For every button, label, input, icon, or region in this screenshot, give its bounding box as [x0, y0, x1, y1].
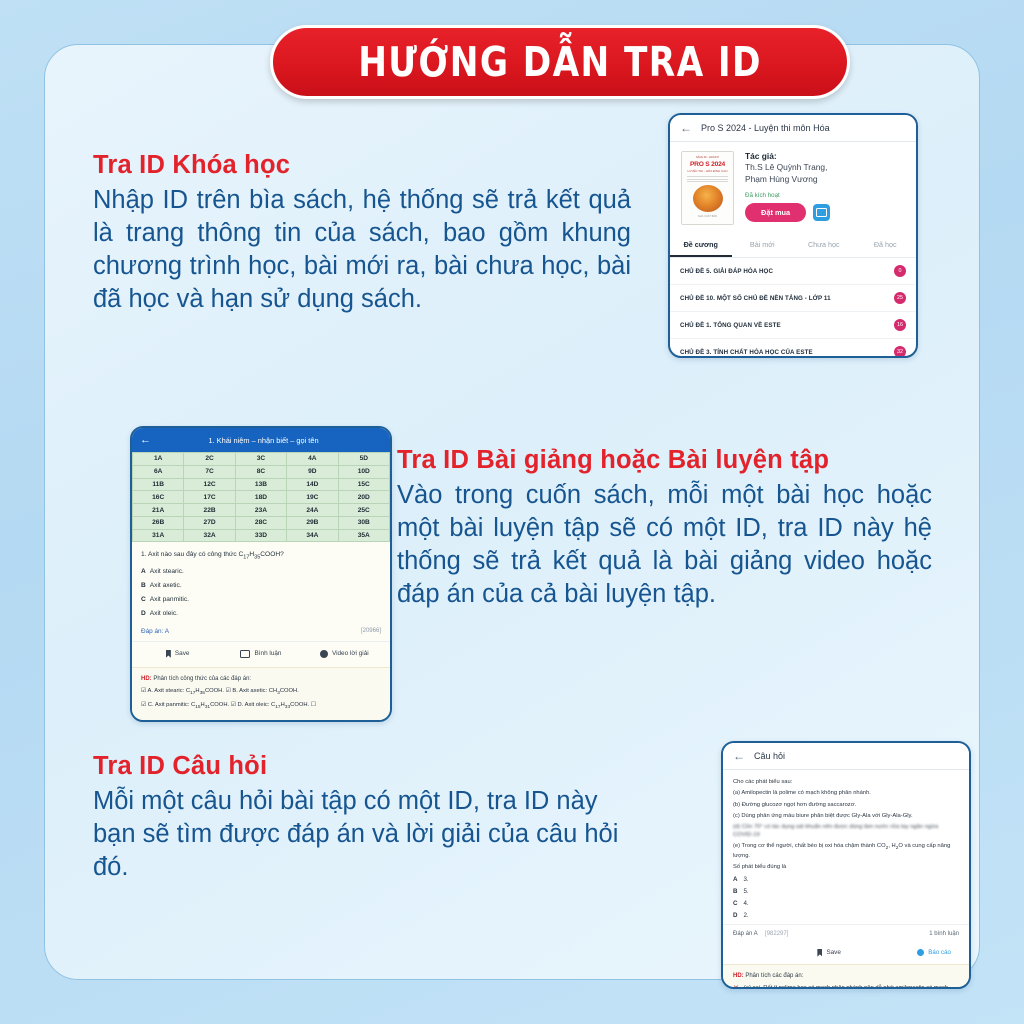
tab-de-cuong[interactable]: Đề cương	[670, 233, 732, 257]
option-key: B	[733, 888, 737, 895]
statement-d: (d) Cồn 70° có tác dụng sát khuẩn nên đư…	[733, 824, 959, 840]
answer-key-cell: 31A	[133, 529, 184, 542]
topic-row[interactable]: CHỦ ĐỀ 3. TÍNH CHẤT HÓA HỌC CỦA ESTE 32	[670, 339, 916, 358]
statement-a: (a) Amilopectin là polime có mạch không …	[733, 790, 959, 798]
statement-c: (c) Dùng phản ứng màu biure phân biệt đư…	[733, 813, 959, 821]
hint-line: ☑ C. Axit panmitic: C15H31COOH. ☑ D. Axi…	[141, 702, 381, 710]
question-id: [20966]	[361, 628, 381, 634]
book-cover-top-note: SÁCH ID - HỌC247	[696, 156, 719, 159]
answer-key-row: 26B27D28C29B30B	[133, 516, 390, 529]
answer-key-cell: 12C	[184, 478, 235, 491]
topic-row[interactable]: CHỦ ĐỀ 10. MỘT SỐ CHỦ ĐỀ NỀN TẢNG - LỚP …	[670, 285, 916, 312]
option-key: D	[141, 610, 146, 617]
option-key: A	[733, 876, 737, 883]
author-name-2: Phạm Hùng Vương	[745, 173, 830, 185]
section-3-body: Mỗi một câu hỏi bài tập có một ID, tra I…	[93, 785, 631, 884]
answer-line: Đáp án: A [20966]	[141, 628, 381, 635]
hint-label: HD:	[141, 676, 152, 682]
book-cover-lines	[687, 175, 728, 183]
answer-key-cell: 3C	[235, 453, 286, 466]
back-arrow-icon[interactable]: ←	[680, 122, 692, 134]
buy-button[interactable]: Đặt mua	[745, 203, 806, 222]
answer-key-cell: 16C	[133, 491, 184, 504]
answer-key-cell: 30B	[338, 516, 389, 529]
section-2-body: Vào trong cuốn sách, mỗi một bài học hoặ…	[397, 479, 932, 611]
topic-label: CHỦ ĐỀ 3. TÍNH CHẤT HÓA HỌC CỦA ESTE	[680, 349, 813, 356]
answer-key-cell: 18D	[235, 491, 286, 504]
answer-key-cell: 34A	[287, 529, 338, 542]
bookmark-icon	[817, 949, 822, 957]
page-title-banner: HƯỚNG DẪN TRA ID	[270, 25, 850, 99]
topic-row[interactable]: CHỦ ĐỀ 5. GIẢI ĐÁP HÓA HỌC 0	[670, 258, 916, 285]
option-text: Axit oleic.	[150, 610, 178, 617]
option-row: C4.	[733, 900, 969, 907]
section-course-id: Tra ID Khóa học Nhập ID trên bìa sách, h…	[93, 151, 631, 316]
question-block: 1. Axit nào sau đây có công thức C17H35C…	[132, 542, 390, 634]
course-summary: SÁCH ID - HỌC247 PRO S 2024 LUYỆN THI - …	[670, 142, 916, 230]
hint-label: HD:	[733, 973, 744, 979]
option-text: Axit panmitic.	[150, 596, 189, 603]
bookmark-icon	[166, 650, 171, 658]
question-id: [982297]	[765, 931, 788, 937]
option-text: Axit axetic.	[150, 582, 182, 589]
option-row: D2.	[733, 912, 969, 919]
option-text: 4.	[743, 900, 748, 907]
author-name-1: Th.S Lê Quỳnh Trang,	[745, 161, 830, 173]
video-label: Video lời giải	[332, 650, 369, 657]
answer-value: Đáp án: A	[141, 628, 169, 635]
answer-key-title: 1. Khái niệm – nhận biết – gọi tên	[159, 436, 368, 445]
answer-key-cell: 9D	[287, 465, 338, 478]
question-app-bar: ← Câu hỏi	[723, 743, 969, 770]
topic-count-badge: 16	[894, 319, 906, 331]
answer-key-cell: 14D	[287, 478, 338, 491]
play-circle-icon	[320, 650, 328, 658]
answer-key-table: 1A2C3C4A5D6A7C8C9D10D11B12C13B14D15C16C1…	[132, 452, 390, 542]
answer-key-cell: 25C	[338, 504, 389, 517]
question-sub-prompt: Số phát biểu đúng là	[733, 864, 959, 872]
answer-key-row: 1A2C3C4A5D	[133, 453, 390, 466]
answer-key-row: 6A7C8C9D10D	[133, 465, 390, 478]
section-1-body: Nhập ID trên bìa sách, hệ thống sẽ trả k…	[93, 184, 631, 316]
topic-count-badge: 32	[894, 346, 906, 358]
answer-key-row: 16C17C18D19C20D	[133, 491, 390, 504]
book-cover-artwork	[693, 185, 723, 212]
option-row: CAxit panmitic.	[141, 596, 381, 603]
answer-key-cell: 24A	[287, 504, 338, 517]
answer-key-cell: 6A	[133, 465, 184, 478]
save-button[interactable]: Save	[741, 949, 917, 957]
option-text: Axit stearic.	[150, 568, 184, 575]
answer-key-cell: 8C	[235, 465, 286, 478]
topic-label: CHỦ ĐỀ 5. GIẢI ĐÁP HÓA HỌC	[680, 268, 773, 275]
course-app-bar: ← Pro S 2024 - Luyện thi môn Hóa	[670, 115, 916, 142]
question-text-value: 1. Axit nào sau đây có công thức C17H35C…	[141, 551, 284, 558]
answer-key-cell: 15C	[338, 478, 389, 491]
hint-title: Phân tích công thức của các đáp án:	[153, 676, 251, 682]
answer-key-cell: 13B	[235, 478, 286, 491]
option-text: 3.	[743, 876, 748, 883]
topic-count-badge: 25	[894, 292, 906, 304]
option-key: B	[141, 582, 146, 589]
report-label: Báo cáo	[928, 949, 951, 956]
statement-b: (b) Đường glucozơ ngọt hơn đường saccaro…	[733, 802, 959, 810]
answer-key-cell: 7C	[184, 465, 235, 478]
answer-key-cell: 1A	[133, 453, 184, 466]
answer-explanation: HD: Phân tích công thức của các đáp án: …	[132, 667, 390, 720]
answer-key-cell: 17C	[184, 491, 235, 504]
topic-count-badge: 0	[894, 265, 906, 277]
section-3-heading: Tra ID Câu hỏi	[93, 752, 631, 781]
course-screen-mockup: ← Pro S 2024 - Luyện thi môn Hóa SÁCH ID…	[668, 113, 918, 358]
answer-text: Đáp án A	[733, 931, 757, 937]
answer-key-cell: 29B	[287, 516, 338, 529]
answer-key-cell: 35A	[338, 529, 389, 542]
topic-label: CHỦ ĐỀ 1. TỔNG QUAN VỀ ESTE	[680, 322, 781, 329]
answer-key-row: 11B12C13B14D15C	[133, 478, 390, 491]
answer-key-cell: 10D	[338, 465, 389, 478]
question-prompt: Cho các phát biểu sau:	[733, 779, 959, 787]
section-2-heading: Tra ID Bài giảng hoặc Bài luyện tập	[397, 446, 932, 475]
answer-key-cell: 4A	[287, 453, 338, 466]
answer-key-app-bar: ← 1. Khái niệm – nhận biết – gọi tên	[132, 428, 390, 452]
answer-key-cell: 22B	[184, 504, 235, 517]
tab-da-hoc[interactable]: Đã học	[855, 233, 917, 257]
question-screen-title: Câu hỏi	[754, 751, 785, 761]
save-button[interactable]: Save	[136, 650, 219, 658]
comment-count[interactable]: 1 bình luận	[929, 931, 959, 937]
topic-label: CHỦ ĐỀ 10. MỘT SỐ CHỦ ĐỀ NỀN TẢNG - LỚP …	[680, 295, 831, 302]
question-footer: Đáp án A [982297] 1 bình luận	[723, 924, 969, 943]
option-row: BAxit axetic.	[141, 582, 381, 589]
author-label: Tác giả:	[745, 151, 830, 161]
question-explanation: HD: Phân tích các đáp án: ✕ (a) sai. Rất…	[723, 964, 969, 989]
chat-icon[interactable]	[813, 204, 830, 221]
save-label: Save	[826, 949, 841, 956]
answer-value: Đáp án A [982297]	[733, 931, 788, 937]
option-key: D	[733, 912, 737, 919]
option-key: A	[141, 568, 146, 575]
answer-key-cell: 2C	[184, 453, 235, 466]
answer-key-cell: 32A	[184, 529, 235, 542]
answer-key-cell: 19C	[287, 491, 338, 504]
option-row: B5.	[733, 888, 969, 895]
section-1-heading: Tra ID Khóa học	[93, 151, 631, 180]
hint-line: (a) sai. Rất ít polime học có mạch phân …	[744, 985, 959, 989]
course-title: Pro S 2024 - Luyện thi môn Hóa	[701, 123, 830, 133]
hint-line: ☑ A. Axit stearic: C17H35COOH. ☑ B. Axit…	[141, 688, 381, 696]
course-action-row: Đặt mua	[745, 203, 830, 222]
question-actions: Save Báo cáo	[723, 943, 969, 964]
book-cover-image: SÁCH ID - HỌC247 PRO S 2024 LUYỆN THI - …	[681, 151, 734, 225]
book-cover-title: PRO S 2024	[690, 161, 725, 168]
option-row: A3.	[733, 876, 969, 883]
report-button[interactable]: Báo cáo	[917, 949, 951, 956]
comment-label: Bình luận	[254, 650, 281, 657]
page-title: HƯỚNG DẪN TRA ID	[358, 38, 762, 86]
option-text: 5.	[743, 888, 748, 895]
course-meta: Tác giả: Th.S Lê Quỳnh Trang, Phạm Hùng …	[745, 151, 830, 225]
comment-button[interactable]: Bình luận	[219, 650, 302, 658]
section-lesson-id: Tra ID Bài giảng hoặc Bài luyện tập Vào …	[397, 446, 932, 611]
tab-bai-moi[interactable]: Bài mới	[732, 233, 794, 257]
answer-key-cell: 5D	[338, 453, 389, 466]
save-label: Save	[175, 650, 190, 657]
option-row: AAxit stearic.	[141, 568, 381, 575]
info-icon	[917, 949, 924, 956]
hint-title: Phân tích các đáp án:	[745, 973, 803, 979]
answer-key-cell: 27D	[184, 516, 235, 529]
video-solution-button[interactable]: Video lời giải	[303, 650, 386, 658]
hint-title-row: HD: Phân tích công thức của các đáp án:	[141, 676, 381, 682]
statement-e: (e) Trong cơ thể người, chất béo bị oxi …	[733, 843, 959, 860]
cross-icon: ✕	[733, 985, 739, 989]
book-cover-subtitle: LUYỆN THI - HÓA ĐỈNH CAO	[687, 169, 727, 173]
hint-line-row: ✕ (a) sai. Rất ít polime học có mạch phâ…	[733, 985, 959, 989]
answer-key-cell: 11B	[133, 478, 184, 491]
back-arrow-icon[interactable]: ←	[733, 750, 745, 762]
answer-key-cell: 26B	[133, 516, 184, 529]
answer-key-cell: 21A	[133, 504, 184, 517]
answer-key-cell: 33D	[235, 529, 286, 542]
tab-chua-hoc[interactable]: Chưa học	[793, 233, 855, 257]
statement-block: Cho các phát biểu sau: (a) Amilopectin l…	[723, 770, 969, 872]
answer-actions: Save Bình luận Video lời giải	[132, 641, 390, 667]
section-question-id: Tra ID Câu hỏi Mỗi một câu hỏi bài tập c…	[93, 752, 631, 884]
hint-title-row: HD: Phân tích các đáp án:	[733, 973, 959, 979]
option-row: DAxit oleic.	[141, 610, 381, 617]
book-cover-footer: NHÀ XUẤT BẢN	[698, 215, 717, 218]
option-text: 2.	[743, 912, 748, 919]
answer-key-cell: 20D	[338, 491, 389, 504]
answer-key-cell: 23A	[235, 504, 286, 517]
back-arrow-icon[interactable]: ←	[140, 434, 151, 446]
answer-key-cell: 28C	[235, 516, 286, 529]
option-key: C	[141, 596, 146, 603]
answer-key-row: 21A22B23A24A25C	[133, 504, 390, 517]
question-text: 1. Axit nào sau đây có công thức C17H35C…	[141, 551, 381, 560]
activation-status: Đã kích hoạt	[745, 192, 830, 199]
course-tabs: Đề cương Bài mới Chưa học Đã học	[670, 233, 916, 258]
question-screen-mockup: ← Câu hỏi Cho các phát biểu sau: (a) Ami…	[721, 741, 971, 989]
poster-panel: HƯỚNG DẪN TRA ID Tra ID Khóa học Nhập ID…	[44, 44, 980, 980]
topic-row[interactable]: CHỦ ĐỀ 1. TỔNG QUAN VỀ ESTE 16	[670, 312, 916, 339]
answer-key-row: 31A32A33D34A35A	[133, 529, 390, 542]
option-key: C	[733, 900, 737, 907]
answer-key-screen-mockup: ← 1. Khái niệm – nhận biết – gọi tên 1A2…	[130, 426, 392, 722]
comment-icon	[240, 650, 250, 658]
